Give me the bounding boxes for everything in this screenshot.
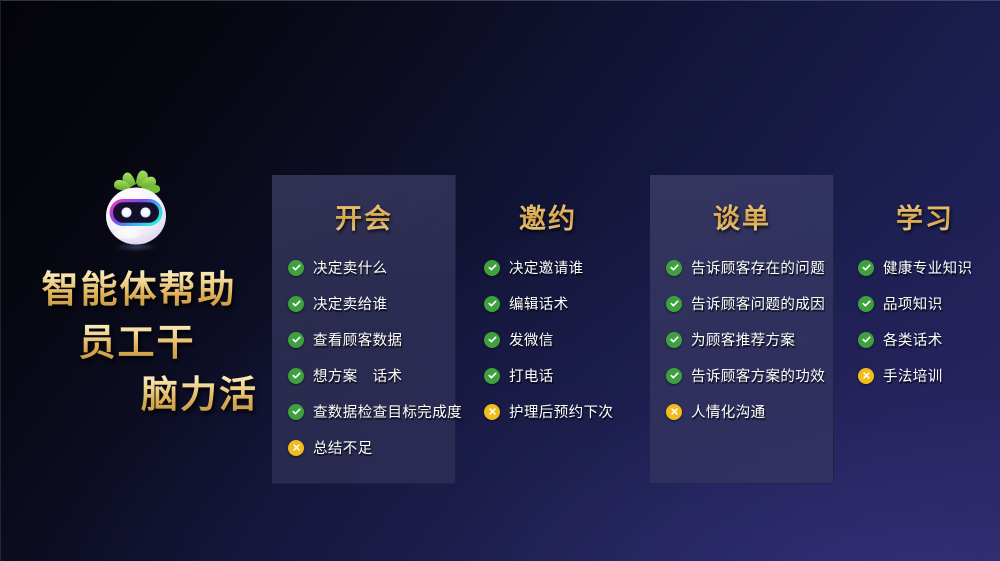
task-label: 人情化沟通 (691, 401, 766, 422)
list-item[interactable]: 健康专业知识 (840, 257, 1000, 278)
list-item[interactable]: 决定卖给谁 (272, 293, 456, 314)
list-item[interactable]: 品项知识 (840, 293, 1000, 314)
cross-circle-icon (858, 368, 874, 384)
presentation-slide: 智能体帮助 员工干 脑力活 开会决定卖什么决定卖给谁查看顾客数据想方案 话术查数… (0, 0, 1000, 561)
list-item[interactable]: 告诉顾客方案的功效 (650, 365, 834, 386)
check-circle-icon (666, 368, 682, 384)
column-title: 开会 (272, 175, 456, 236)
check-circle-icon (288, 404, 304, 420)
list-item[interactable]: 查数据检查目标完成度 (272, 401, 456, 422)
task-label: 决定邀请谁 (509, 257, 584, 278)
task-label: 想方案 话术 (313, 365, 402, 386)
check-circle-icon (484, 296, 500, 312)
task-label: 为顾客推荐方案 (691, 329, 795, 350)
check-circle-icon (288, 296, 304, 312)
list-item[interactable]: 各类话术 (840, 329, 1000, 350)
task-label: 健康专业知识 (883, 257, 972, 278)
check-circle-icon (858, 332, 874, 348)
headline-line-2: 员工干 (0, 317, 272, 370)
column-content: 学习健康专业知识品项知识各类话术手法培训 (840, 175, 1000, 386)
list-item[interactable]: 护理后预约下次 (456, 401, 640, 422)
task-column-2: 邀约决定邀请谁编辑话术发微信打电话护理后预约下次 (456, 175, 640, 437)
task-label: 打电话 (509, 365, 554, 386)
check-circle-icon (288, 332, 304, 348)
list-item[interactable]: 决定卖什么 (272, 257, 456, 278)
check-circle-icon (666, 260, 682, 276)
task-label: 告诉顾客问题的成因 (691, 293, 825, 314)
task-label: 护理后预约下次 (509, 401, 613, 422)
cross-circle-icon (288, 440, 304, 456)
task-label: 告诉顾客存在的问题 (691, 257, 825, 278)
check-circle-icon (666, 296, 682, 312)
check-circle-icon (858, 296, 874, 312)
robot-turnip-mascot-icon (93, 168, 179, 254)
task-label: 查数据检查目标完成度 (313, 401, 462, 422)
task-label: 查看顾客数据 (313, 329, 402, 350)
list-item[interactable]: 决定邀请谁 (456, 257, 640, 278)
list-item[interactable]: 发微信 (456, 329, 640, 350)
list-item[interactable]: 人情化沟通 (650, 401, 834, 422)
task-label: 决定卖什么 (313, 257, 388, 278)
check-circle-icon (288, 368, 304, 384)
task-label: 各类话术 (883, 329, 943, 350)
task-label: 总结不足 (313, 437, 373, 458)
column-content: 开会决定卖什么决定卖给谁查看顾客数据想方案 话术查数据检查目标完成度总结不足 (272, 175, 456, 458)
cross-circle-icon (666, 404, 682, 420)
headline-line-1: 智能体帮助 (0, 264, 272, 317)
task-column-4: 学习健康专业知识品项知识各类话术手法培训 (840, 175, 1000, 401)
list-item[interactable]: 手法培训 (840, 365, 1000, 386)
task-list: 决定卖什么决定卖给谁查看顾客数据想方案 话术查数据检查目标完成度总结不足 (272, 257, 456, 458)
check-circle-icon (484, 368, 500, 384)
list-item[interactable]: 为顾客推荐方案 (650, 329, 834, 350)
column-title: 邀约 (456, 175, 640, 236)
column-title: 谈单 (650, 175, 834, 236)
check-circle-icon (484, 260, 500, 276)
check-circle-icon (666, 332, 682, 348)
task-label: 决定卖给谁 (313, 293, 388, 314)
list-item[interactable]: 打电话 (456, 365, 640, 386)
list-item[interactable]: 告诉顾客问题的成因 (650, 293, 834, 314)
column-title: 学习 (840, 175, 1000, 236)
task-list: 健康专业知识品项知识各类话术手法培训 (840, 257, 1000, 386)
cross-circle-icon (484, 404, 500, 420)
column-content: 谈单告诉顾客存在的问题告诉顾客问题的成因为顾客推荐方案告诉顾客方案的功效人情化沟… (650, 175, 834, 422)
task-column-3: 谈单告诉顾客存在的问题告诉顾客问题的成因为顾客推荐方案告诉顾客方案的功效人情化沟… (650, 175, 834, 437)
task-label: 品项知识 (883, 293, 943, 314)
list-item[interactable]: 告诉顾客存在的问题 (650, 257, 834, 278)
task-label: 手法培训 (883, 365, 943, 386)
task-list: 告诉顾客存在的问题告诉顾客问题的成因为顾客推荐方案告诉顾客方案的功效人情化沟通 (650, 257, 834, 422)
headline-line-3: 脑力活 (0, 369, 272, 422)
task-label: 编辑话术 (509, 293, 569, 314)
task-list: 决定邀请谁编辑话术发微信打电话护理后预约下次 (456, 257, 640, 422)
task-column-1: 开会决定卖什么决定卖给谁查看顾客数据想方案 话术查数据检查目标完成度总结不足 (272, 175, 456, 473)
check-circle-icon (288, 260, 304, 276)
task-label: 发微信 (509, 329, 554, 350)
page-title: 智能体帮助 员工干 脑力活 (0, 262, 272, 422)
column-content: 邀约决定邀请谁编辑话术发微信打电话护理后预约下次 (456, 175, 640, 422)
task-label: 告诉顾客方案的功效 (691, 365, 825, 386)
list-item[interactable]: 编辑话术 (456, 293, 640, 314)
list-item[interactable]: 总结不足 (272, 437, 456, 458)
check-circle-icon (858, 260, 874, 276)
list-item[interactable]: 想方案 话术 (272, 365, 456, 386)
list-item[interactable]: 查看顾客数据 (272, 329, 456, 350)
check-circle-icon (484, 332, 500, 348)
left-headline-block: 智能体帮助 员工干 脑力活 (0, 168, 272, 422)
